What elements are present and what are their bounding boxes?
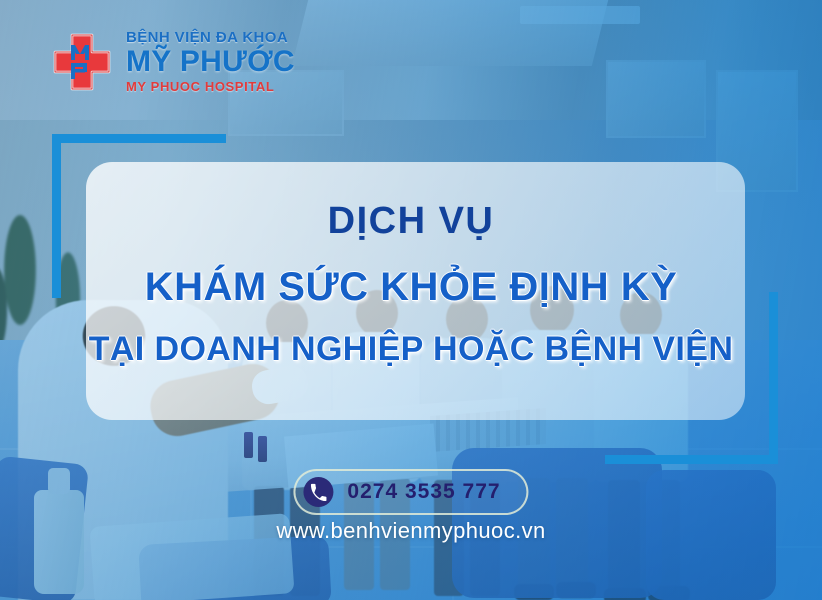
medical-cross-logo-icon <box>52 32 112 92</box>
phone-contact-badge[interactable]: 0274 3535 777 <box>293 469 528 515</box>
brand-line-3: MY PHUOC HOSPITAL <box>126 80 295 93</box>
poster-title-block: DỊCH VỤ KHÁM SỨC KHỎE ĐỊNH KỲ TẠI DOANH … <box>0 160 822 369</box>
phone-number: 0274 3535 777 <box>347 480 500 504</box>
bracket-horizontal-line <box>605 455 778 464</box>
website-url[interactable]: www.benhvienmyphuoc.vn <box>0 518 822 544</box>
hospital-brand-header: BỆNH VIỆN ĐA KHOA MỸ PHƯỚC MY PHUOC HOSP… <box>52 30 295 93</box>
poster-title-line-2: KHÁM SỨC KHỎE ĐỊNH KỲ <box>0 265 822 310</box>
poster-title-line-1: DỊCH VỤ <box>0 200 822 243</box>
bracket-horizontal-line <box>52 134 226 143</box>
poster-title-line-3: TẠI DOANH NGHIỆP HOẶC BỆNH VIỆN <box>0 330 822 369</box>
hospital-service-banner: BỆNH VIỆN ĐA KHOA MỸ PHƯỚC MY PHUOC HOSP… <box>0 0 822 600</box>
brand-line-1: BỆNH VIỆN ĐA KHOA <box>126 30 295 45</box>
brand-line-2: MỸ PHƯỚC <box>126 47 295 77</box>
brand-text-block: BỆNH VIỆN ĐA KHOA MỸ PHƯỚC MY PHUOC HOSP… <box>126 30 295 93</box>
phone-handset-icon <box>303 477 333 507</box>
